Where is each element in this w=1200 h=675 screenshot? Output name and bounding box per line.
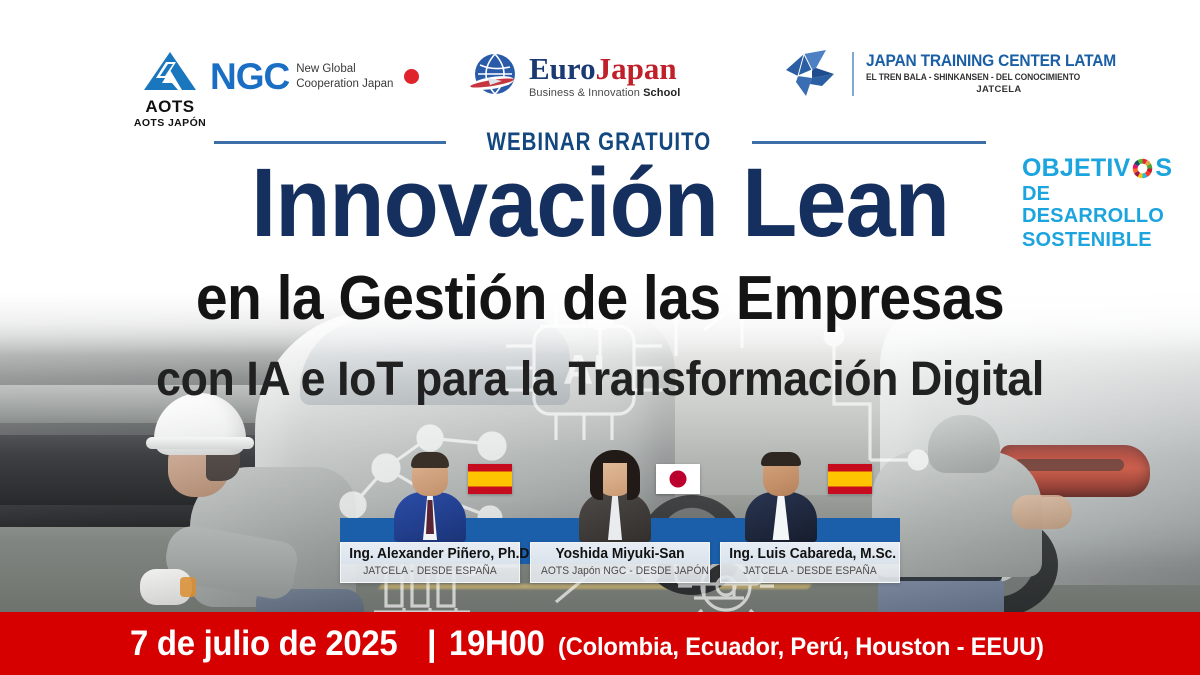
kicker-rule-right [752, 141, 986, 144]
japan-flag-icon [656, 464, 700, 494]
ngc-tagline: New Global Cooperation Japan [296, 62, 393, 91]
ods-line3: SOSTENIBLE [1022, 229, 1194, 251]
eurojapan-subtitle-a: Business & Innovation [529, 87, 643, 99]
speaker-2-name: Yoshida Miyuki-San [539, 547, 701, 563]
logo-jatcela[interactable]: JAPAN TRAINING CENTER LATAM EL TREN BALA… [782, 48, 1132, 100]
page-title: Innovación Lean [42, 155, 1158, 250]
speakers-group: Ing. Alexander Piñero, Ph.D. JATCELA - D… [340, 450, 900, 595]
aots-name: AOTS [130, 98, 210, 116]
eurojapan-word-japan: Japan [596, 51, 677, 86]
ods-line1-b: S [1155, 156, 1172, 181]
subtitle-line-1: en la Gestión de las Empresas [48, 268, 1152, 330]
event-datetime-banner: 7 de julio de 2025 | 19H00 (Colombia, Ec… [0, 612, 1200, 675]
jatcela-line3: JATCELA [866, 84, 1132, 95]
sdg-color-wheel-icon [1131, 157, 1154, 180]
datetime-separator: | [427, 624, 437, 664]
avatar-speaker-3 [742, 450, 820, 540]
ngc-abbr: NGC [210, 58, 289, 95]
eurojapan-subtitle-b: School [643, 87, 680, 99]
speaker-1-nameplate: Ing. Alexander Piñero, Ph.D. JATCELA - D… [340, 542, 520, 583]
speaker-2-org: AOTS Japón NGC - DESDE JAPÓN [541, 565, 699, 577]
event-time: 19H00 [449, 624, 545, 664]
ods-line1: OBJETIV S [1022, 156, 1194, 181]
kicker-rule-left [214, 141, 446, 144]
eurojapan-text: EuroJapan Business & Innovation School [529, 53, 680, 99]
speaker-2-nameplate: Yoshida Miyuki-San AOTS Japón NGC - DESD… [530, 542, 710, 583]
jatcela-divider [852, 52, 854, 96]
jatcela-line1: JAPAN TRAINING CENTER LATAM [866, 53, 1116, 70]
ngc-tagline-line2: Cooperation Japan [296, 78, 393, 90]
speaker-3-nameplate: Ing. Luis Cabareda, M.Sc. JATCELA - DESD… [720, 542, 900, 583]
logo-ods-sustainable-goals[interactable]: OBJETIV S DE DESARROL [1022, 156, 1194, 251]
logo-eurojapan[interactable]: EuroJapan Business & Innovation School [468, 50, 680, 102]
eurojapan-wordmark: EuroJapan [529, 53, 680, 84]
logo-ngc[interactable]: NGC New Global Cooperation Japan [210, 58, 419, 95]
speaker-3-org: JATCELA - DESDE ESPAÑA [731, 565, 889, 577]
speaker-3-name: Ing. Luis Cabareda, M.Sc. [729, 547, 891, 563]
eurojapan-word-euro: Euro [529, 51, 596, 86]
subtitle-line-2: con IA e IoT para la Transformación Digi… [42, 356, 1158, 404]
spain-flag-icon [468, 464, 512, 494]
event-date: 7 de julio de 2025 [130, 624, 397, 664]
speaker-3-hair [761, 452, 801, 466]
jatcela-text: JAPAN TRAINING CENTER LATAM EL TREN BALA… [866, 53, 1132, 95]
eurojapan-subtitle: Business & Innovation School [529, 88, 680, 99]
event-datetime-text: 7 de julio de 2025 | 19H00 (Colombia, Ec… [130, 624, 1069, 664]
event-timezones: (Colombia, Ecuador, Perú, Houston - EEUU… [558, 633, 1044, 662]
ods-line2: DE DESARROLLO [1022, 183, 1194, 228]
avatar-speaker-2 [576, 450, 654, 540]
aots-triangle-icon [142, 50, 198, 92]
spain-flag-icon [828, 464, 872, 494]
speaker-1-name: Ing. Alexander Piñero, Ph.D. [349, 547, 511, 563]
avatar-speaker-1 [391, 450, 469, 540]
ods-line1-a: OBJETIV [1022, 156, 1130, 181]
partner-logos-row: AOTS AOTS JAPÓN NGC New Global Cooperati… [0, 22, 1200, 102]
jatcela-line2: EL TREN BALA - SHINKANSEN - DEL CONOCIMI… [866, 72, 1116, 83]
speaker-1-hair [411, 452, 449, 468]
webinar-poster: AI [0, 0, 1200, 675]
globe-airplane-icon [468, 50, 520, 102]
speaker-1-org: JATCELA - DESDE ESPAÑA [351, 565, 509, 577]
origami-crane-icon [782, 48, 840, 100]
ngc-tagline-line1: New Global [296, 63, 355, 75]
japan-flag-dot-icon [404, 69, 419, 84]
logo-aots[interactable]: AOTS AOTS JAPÓN [130, 50, 210, 129]
